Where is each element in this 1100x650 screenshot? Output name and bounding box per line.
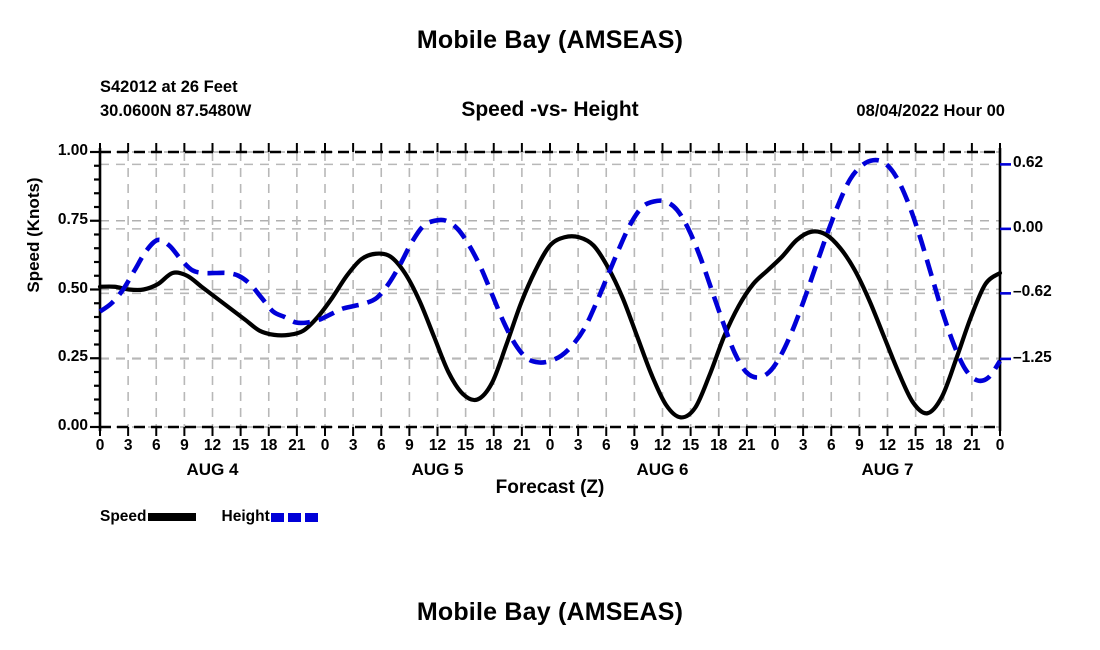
forecast-datestamp: 08/04/2022 Hour 00 bbox=[856, 102, 1005, 121]
x-tick-2: 6 bbox=[141, 437, 171, 455]
day-label-aug-6: AUG 6 bbox=[603, 460, 723, 480]
x-tick-28: 12 bbox=[873, 437, 903, 455]
x-tick-9: 3 bbox=[338, 437, 368, 455]
x-tick-5: 15 bbox=[226, 437, 256, 455]
x-tick-6: 18 bbox=[254, 437, 284, 455]
y-tick-left-0.25: 0.25 bbox=[32, 348, 88, 366]
y-tick-right-0.00: 0.00 bbox=[1013, 219, 1073, 237]
legend-label-speed: Speed bbox=[100, 508, 147, 526]
x-tick-10: 6 bbox=[366, 437, 396, 455]
station-info: S42012 at 26 Feet bbox=[100, 78, 238, 97]
x-tick-27: 9 bbox=[844, 437, 874, 455]
x-tick-32: 0 bbox=[985, 437, 1015, 455]
x-tick-12: 12 bbox=[423, 437, 453, 455]
x-tick-23: 21 bbox=[732, 437, 762, 455]
x-tick-31: 21 bbox=[957, 437, 987, 455]
x-tick-7: 21 bbox=[282, 437, 312, 455]
y-tick-left-0.00: 0.00 bbox=[32, 417, 88, 435]
x-tick-26: 6 bbox=[816, 437, 846, 455]
x-tick-8: 0 bbox=[310, 437, 340, 455]
x-tick-14: 18 bbox=[479, 437, 509, 455]
y-tick-right-0.62: 0.62 bbox=[1013, 154, 1073, 172]
y-tick-left-0.75: 0.75 bbox=[32, 211, 88, 229]
day-label-aug-4: AUG 4 bbox=[153, 460, 273, 480]
x-tick-11: 9 bbox=[394, 437, 424, 455]
x-tick-24: 0 bbox=[760, 437, 790, 455]
x-tick-0: 0 bbox=[85, 437, 115, 455]
x-tick-20: 12 bbox=[648, 437, 678, 455]
legend-swatch-speed bbox=[148, 513, 196, 521]
y-tick-right--0.62: –0.62 bbox=[1013, 283, 1073, 301]
chart-legend: Speed Height bbox=[100, 508, 345, 526]
x-tick-1: 3 bbox=[113, 437, 143, 455]
x-tick-16: 0 bbox=[535, 437, 565, 455]
page-title-bottom: Mobile Bay (AMSEAS) bbox=[0, 598, 1100, 627]
page-title-top: Mobile Bay (AMSEAS) bbox=[0, 26, 1100, 55]
x-tick-15: 21 bbox=[507, 437, 537, 455]
x-tick-3: 9 bbox=[169, 437, 199, 455]
x-tick-25: 3 bbox=[788, 437, 818, 455]
chart-page: Mobile Bay (AMSEAS) S42012 at 26 Feet 30… bbox=[0, 0, 1100, 650]
legend-label-height: Height bbox=[222, 508, 270, 526]
day-label-aug-7: AUG 7 bbox=[828, 460, 948, 480]
x-tick-4: 12 bbox=[198, 437, 228, 455]
x-axis-label: Forecast (Z) bbox=[0, 477, 1100, 499]
x-tick-30: 18 bbox=[929, 437, 959, 455]
x-tick-21: 15 bbox=[676, 437, 706, 455]
day-label-aug-5: AUG 5 bbox=[378, 460, 498, 480]
x-tick-17: 3 bbox=[563, 437, 593, 455]
y-tick-left-1.00: 1.00 bbox=[32, 142, 88, 160]
x-tick-19: 9 bbox=[619, 437, 649, 455]
x-tick-13: 15 bbox=[451, 437, 481, 455]
legend-item-height: Height bbox=[222, 508, 345, 526]
y-axis-left-label: Speed (Knots) bbox=[24, 145, 44, 325]
legend-swatch-height bbox=[271, 513, 319, 522]
legend-item-speed: Speed bbox=[100, 508, 222, 526]
x-tick-22: 18 bbox=[704, 437, 734, 455]
y-tick-left-0.50: 0.50 bbox=[32, 280, 88, 298]
x-tick-18: 6 bbox=[591, 437, 621, 455]
x-tick-29: 15 bbox=[901, 437, 931, 455]
y-tick-right--1.25: –1.25 bbox=[1013, 349, 1073, 367]
